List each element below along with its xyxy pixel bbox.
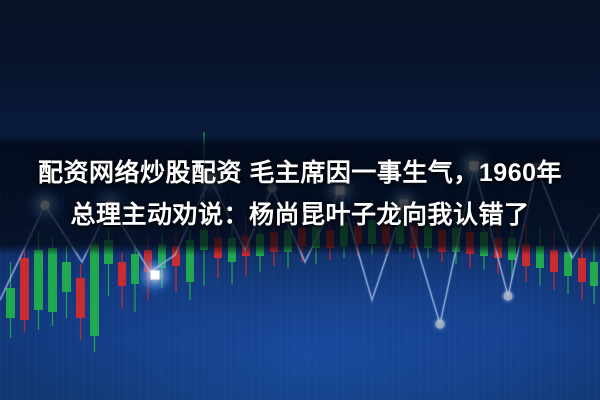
trend-node-circle bbox=[435, 319, 444, 328]
screenshot-canvas: 配资网络炒股配资 毛主席因一事生气，1960年 总理主动劝说：杨尚昆叶子龙向我认… bbox=[0, 0, 600, 400]
headline-line-1: 配资网络炒股配资 毛主席因一事生气，1960年 bbox=[0, 152, 600, 194]
trend-node-square bbox=[151, 271, 160, 280]
trend-node-circle bbox=[503, 291, 512, 300]
headline: 配资网络炒股配资 毛主席因一事生气，1960年 总理主动劝说：杨尚昆叶子龙向我认… bbox=[0, 152, 600, 236]
headline-line-2: 总理主动劝说：杨尚昆叶子龙向我认错了 bbox=[0, 194, 600, 236]
